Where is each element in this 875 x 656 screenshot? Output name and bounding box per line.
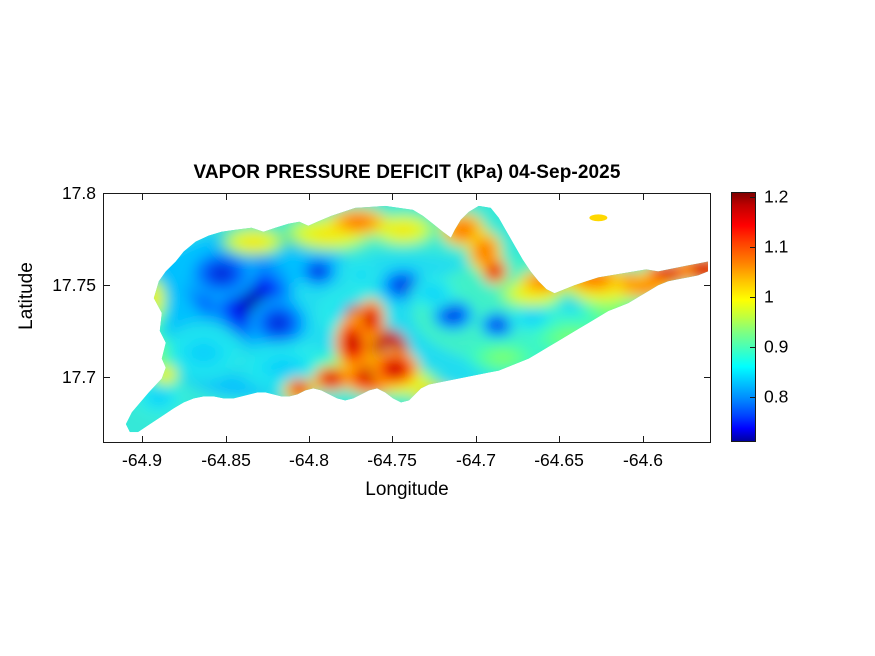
page-title: VAPOR PRESSURE DEFICIT (kPa) 04-Sep-2025 xyxy=(103,162,711,184)
xtick-mark-64.7 xyxy=(476,436,477,443)
colorbar-label-1: 1 xyxy=(764,287,774,308)
colorbar-label-0.8: 0.8 xyxy=(764,387,788,408)
x-axis-ticks: -64.9 -64.85 -64.8 -64.75 -64.7 -64.65 -… xyxy=(103,450,711,476)
xtick-mark-top-64.7 xyxy=(476,193,477,200)
ytick-mark-right-17.75 xyxy=(704,285,711,286)
colorbar-tick-mark-0.8 xyxy=(750,397,756,398)
plot-axes[interactable] xyxy=(103,193,711,443)
x-axis-label: Longitude xyxy=(103,479,711,501)
colorbar-tick-mark-1 xyxy=(750,297,756,298)
ytick-label-17.75: 17.75 xyxy=(52,275,96,296)
colorbar-label-0.9: 0.9 xyxy=(764,337,788,358)
island-field xyxy=(104,194,710,442)
xtick-mark-top-64.6 xyxy=(643,193,644,200)
colorbar-label-1.1: 1.1 xyxy=(764,237,788,258)
ytick-label-17.7: 17.7 xyxy=(62,367,96,388)
xtick-mark-top-64.85 xyxy=(226,193,227,200)
ytick-mark-17.7 xyxy=(103,377,110,378)
xtick-label-64.7: -64.7 xyxy=(456,450,496,471)
xtick-label-64.65: -64.65 xyxy=(534,450,584,471)
xtick-mark-64.65 xyxy=(559,436,560,443)
colorbar-tick-mark-1.1 xyxy=(750,247,756,248)
xtick-mark-64.6 xyxy=(643,436,644,443)
colorbar-label-1.2: 1.2 xyxy=(764,187,788,208)
colorbar[interactable] xyxy=(731,192,756,442)
xtick-mark-top-64.8 xyxy=(309,193,310,200)
xtick-mark-top-64.75 xyxy=(392,193,393,200)
xtick-mark-64.85 xyxy=(226,436,227,443)
figure-canvas: VAPOR PRESSURE DEFICIT (kPa) 04-Sep-2025 xyxy=(0,0,875,656)
xtick-mark-top-64.65 xyxy=(559,193,560,200)
xtick-mark-64.8 xyxy=(309,436,310,443)
xtick-label-64.75: -64.75 xyxy=(367,450,417,471)
xtick-mark-64.9 xyxy=(142,436,143,443)
ytick-label-17.8: 17.8 xyxy=(62,183,96,204)
xtick-label-64.6: -64.6 xyxy=(623,450,663,471)
ytick-mark-right-17.7 xyxy=(704,377,711,378)
vpd-heatmap xyxy=(104,194,710,442)
xtick-mark-top-64.9 xyxy=(142,193,143,200)
colorbar-tick-mark-0.9 xyxy=(750,347,756,348)
xtick-label-64.8: -64.8 xyxy=(289,450,329,471)
ytick-mark-17.75 xyxy=(103,285,110,286)
xtick-mark-64.75 xyxy=(392,436,393,443)
xtick-label-64.85: -64.85 xyxy=(201,450,251,471)
buck-island-field xyxy=(582,210,622,228)
colorbar-tick-mark-1.2 xyxy=(750,197,756,198)
xtick-label-64.9: -64.9 xyxy=(122,450,162,471)
y-axis-label: Latitude xyxy=(16,226,38,366)
